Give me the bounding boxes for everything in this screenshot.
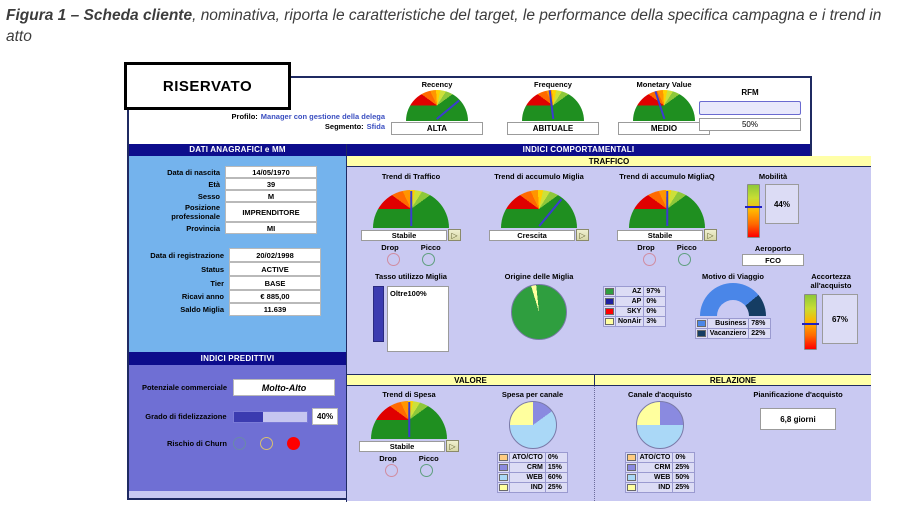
accortezza-title: Accortezza all'acquisto [791,272,871,290]
fidelizzazione-bar [233,411,309,423]
legend-swatch [625,463,637,473]
legend-row: NonAir3% [604,317,666,327]
legend-percent: 0% [545,453,567,463]
spesa-canale-title: Spesa per canale [471,390,594,399]
field-value: M [225,190,317,202]
field-label: Età [137,180,225,189]
field-label: Data di nascita [137,168,225,177]
caption-bold: Figura 1 – Scheda cliente [6,7,192,24]
tasso-utilizzo-block: Tasso utilizzo Miglia Oltre100% [347,272,475,352]
legend-percent: 60% [545,473,567,483]
right-column: TRAFFICO Trend di Traffico Stabile ▷ [347,156,871,502]
legend-name: ATO/CTO [510,453,546,463]
profile-value: Manager con gestione della delega [261,112,385,122]
field-row: Data di registrazione 20/02/1998 [137,248,338,262]
traffico-second-row: Tasso utilizzo Miglia Oltre100% Origine … [347,272,871,352]
field-label: Posizione professionale [137,203,225,221]
gauge-frequency-title: Frequency [501,80,605,89]
field-row: Età 39 [137,178,338,190]
drop-indicator [643,253,656,266]
legend-percent: 78% [749,319,771,329]
field-row: Data di nascita 14/05/1970 [137,166,338,178]
legend-swatch [498,453,510,463]
pianificazione-value-box: 6,8 giorni [760,408,836,430]
origine-legend: AZ97%AP0%SKY0%NonAir3% [603,286,666,327]
aeroporto-title: Aeroporto [731,244,815,253]
header-relazione: RELAZIONE [595,375,871,386]
picco-indicator [422,253,435,266]
legend-name: IND [637,483,673,493]
legend-name: WEB [637,473,673,483]
header-traffico: TRAFFICO [347,156,871,167]
legend-row: SKY0% [604,307,666,317]
picco-label: Picco [419,454,439,463]
motivo-title: Motivo di Viaggio [675,272,791,281]
pianificazione-value: 6,8 giorni [761,409,835,430]
spesa-canale-block: Spesa per canale ATO/CTO0%CRM15%WEB60%IN… [471,386,595,501]
header-dati-anagrafici: DATI ANAGRAFICI e MM [129,144,347,156]
legend-row: IND25% [625,483,695,493]
legend-row: AZ97% [604,287,666,297]
legend-name: NonAir [616,317,644,327]
field-value: 11.639 [229,303,321,316]
trend-traffico-title: Trend di Traffico [347,172,475,190]
canale-pie-chart [636,401,684,449]
header-valore: VALORE [347,375,595,386]
legend-percent: 25% [673,483,695,493]
trend-traffico-dial [373,190,449,228]
mobilita-value: 44% [765,184,799,224]
canale-title: Canale d'acquisto [595,390,725,399]
origine-miglia-block: Origine delle Miglia [475,272,603,352]
pianificazione-block: Pianificazione d'acquisto 6,8 giorni [725,386,871,501]
trend-miglia-value: Crescita [489,230,575,241]
field-value: IMPRENDITORE [225,202,317,222]
legend-name: AP [616,297,644,307]
tasso-value: Oltre100% [388,287,448,298]
churn-row: Rischio di Churn [137,437,338,450]
anagrafica-group-b: Data di registrazione 20/02/1998 Status … [137,248,338,316]
field-value: ACTIVE [229,262,321,276]
fidelizzazione-row: Grado di fidelizzazione 40% [137,408,338,425]
legend-row: ATO/CTO0% [498,453,568,463]
gauge-recency-title: Recency [385,80,489,89]
legend-swatch [625,473,637,483]
potenziale-label: Potenziale commerciale [137,383,233,392]
gauge-recency-dial [406,90,468,121]
predittivi-panel: Potenziale commerciale Molto-Alto Grado … [129,365,346,491]
field-value: 20/02/1998 [229,248,321,262]
field-row: Sesso M [137,190,338,202]
tasso-title: Tasso utilizzo Miglia [347,272,475,281]
gauge-recency-value: ALTA [391,122,483,135]
legend-swatch [695,329,707,339]
legend-percent: 0% [644,307,666,317]
field-value: BASE [229,276,321,290]
header-indici-predittivi: INDICI PREDITTIVI [129,352,346,365]
legend-row: WEB60% [498,473,568,483]
legend-name: CRM [637,463,673,473]
legend-percent: 50% [673,473,695,483]
legend-row: CRM25% [625,463,695,473]
mobilita-meter [747,184,760,238]
fidelizzazione-label: Grado di fidelizzazione [137,412,233,421]
churn-label: Rischio di Churn [137,439,233,448]
field-label: Tier [137,279,229,288]
trend-spesa-title: Trend di Spesa [347,390,471,399]
legend-row: ATO/CTO0% [625,453,695,463]
field-label: Status [137,265,229,274]
picco-label: Picco [677,243,697,252]
spinner-icon[interactable]: ▷ [704,229,717,241]
trend-traffico: Trend di Traffico Stabile ▷ Drop Picco [347,169,475,266]
drop-label: Drop [637,243,655,252]
mobilita-title: Mobilità [731,172,815,181]
legend-name: Vacanziero [707,329,749,339]
field-label: Ricavi anno [137,292,229,301]
trend-migliaq-title: Trend di accumulo MigliaQ [603,172,731,190]
mobilita-block: Mobilità 44% Aeroporto FCO [731,169,815,266]
anagrafica-group-a: Data di nascita 14/05/1970 Età 39 Sesso … [137,166,338,234]
legend-percent: 0% [644,297,666,307]
motivo-viaggio-block: Motivo di Viaggio Business78%Vacanziero2… [675,272,791,352]
churn-dot [260,437,273,450]
field-label: Sesso [137,192,225,201]
potenziale-commerciale-row: Potenziale commerciale Molto-Alto [137,379,338,396]
spesa-legend: ATO/CTO0%CRM15%WEB60%IND25% [497,452,568,493]
spinner-icon[interactable]: ▷ [576,229,589,241]
field-row: Provincia MI [137,222,338,234]
field-label: Saldo Miglia [137,305,229,314]
picco-indicator [420,464,433,477]
trend-migliaq-dial [629,190,705,228]
legend-swatch [625,483,637,493]
profile-row: Profilo: Manager con gestione della dele… [135,112,385,122]
legend-swatch [695,319,707,329]
legend-row: Vacanziero22% [695,329,771,339]
drop-indicator [387,253,400,266]
trend-traffico-value: Stabile [361,230,447,241]
churn-dot-group [233,437,300,450]
drop-label: Drop [381,243,399,252]
segment-row: Segmento: Sfida [135,122,385,132]
legend-percent: 97% [644,287,666,297]
field-value: MI [225,222,317,234]
legend-row: CRM15% [498,463,568,473]
segment-label: Segmento: [325,122,364,132]
gauge-frequency: Frequency ABITUALE [501,80,605,135]
tasso-bar [373,286,384,342]
profile-info: Profilo: Manager con gestione della dele… [135,112,385,132]
legend-swatch [625,453,637,463]
trend-spesa-value: Stabile [359,441,445,452]
top-strip: RISERVATO Profilo: Manager con gestione … [129,78,810,144]
legend-name: CRM [510,463,546,473]
legend-row: IND25% [498,483,568,493]
canale-legend: ATO/CTO0%CRM25%WEB50%IND25% [625,452,696,493]
tasso-value-box: Oltre100% [387,286,449,352]
churn-dot [233,437,246,450]
churn-dot [287,437,300,450]
aeroporto-value-box: FCO [742,254,804,266]
field-row: Ricavi anno € 885,00 [137,290,338,303]
accortezza-value: 67% [822,294,858,344]
field-value: 39 [225,178,317,190]
fidelizzazione-bar-fill [234,412,263,422]
legend-name: Business [707,319,749,329]
trend-spesa-dial [371,401,447,439]
gauge-recency: Recency ALTA [385,80,489,135]
spinner-icon[interactable]: ▷ [448,229,461,241]
legend-swatch [604,287,616,297]
spesa-pie-chart [509,401,557,449]
trend-migliaq-value: Stabile [617,230,703,241]
legend-name: AZ [616,287,644,297]
rfm-bar [699,101,801,115]
picco-indicator [678,253,691,266]
legend-percent: 22% [749,329,771,339]
trend-miglia-title: Trend di accumulo Miglia [475,172,603,190]
legend-row: AP0% [604,297,666,307]
dashboard-body: Data di nascita 14/05/1970 Età 39 Sesso … [129,156,810,502]
legend-name: WEB [510,473,546,483]
fidelizzazione-value: 40% [312,408,338,425]
legend-percent: 25% [545,483,567,493]
pianificazione-title: Pianificazione d'acquisto [725,390,871,400]
legend-percent: 0% [673,453,695,463]
trend-miglia-dial [501,190,577,228]
riservato-stamp: RISERVATO [124,62,291,110]
legend-row: WEB50% [625,473,695,483]
drop-label: Drop [379,454,397,463]
trend-accumulo-migliaq: Trend di accumulo MigliaQ Stabile ▷ Drop… [603,169,731,266]
legend-row: Business78% [695,319,771,329]
traffico-panel: Trend di Traffico Stabile ▷ Drop Picco [347,167,871,374]
spinner-icon[interactable]: ▷ [446,440,459,452]
gauge-monetary-dial [633,90,695,121]
legend-name: IND [510,483,546,493]
traffico-gauge-row: Trend di Traffico Stabile ▷ Drop Picco [347,169,871,266]
field-label: Provincia [137,224,225,233]
valore-relazione-panel: Trend di Spesa Stabile ▷ Drop Picco [347,386,871,501]
rfm-indicator: RFM 50% [692,88,808,131]
legend-swatch [498,463,510,473]
segment-value: Sfida [367,122,385,132]
origine-legend-block: AZ97%AP0%SKY0%NonAir3% [603,272,675,352]
legend-name: SKY [616,307,644,317]
picco-label: Picco [421,243,441,252]
motivo-legend: Business78%Vacanziero22% [695,318,772,339]
aeroporto-value: FCO [743,255,803,266]
mobilita-marker [745,206,762,208]
field-row: Tier BASE [137,276,338,290]
canale-acquisto-block: Canale d'acquisto ATO/CTO0%CRM25%WEB50%I… [595,386,725,501]
field-row: Status ACTIVE [137,262,338,276]
rfm-title: RFM [692,88,808,97]
figure-caption: Figura 1 – Scheda cliente, nominativa, r… [6,6,892,48]
legend-swatch [498,483,510,493]
anagrafica-panel: Data di nascita 14/05/1970 Età 39 Sesso … [129,156,346,352]
gauge-frequency-dial [522,90,584,121]
legend-swatch [498,473,510,483]
drop-indicator [385,464,398,477]
gauge-frequency-value: ABITUALE [507,122,599,135]
legend-swatch [604,317,616,327]
motivo-donut [700,283,766,316]
accortezza-block: Accortezza all'acquisto 67% [791,272,871,352]
customer-scorecard-dashboard: RISERVATO Profilo: Manager con gestione … [127,76,812,500]
legend-name: ATO/CTO [637,453,673,463]
legend-swatch [604,297,616,307]
accortezza-marker [802,323,819,325]
trend-accumulo-miglia: Trend di accumulo Miglia Crescita ▷ ·· [475,169,603,266]
header-indici-comportamentali: INDICI COMPORTAMENTALI [347,144,810,156]
legend-swatch [604,307,616,317]
legend-percent: 15% [545,463,567,473]
legend-percent: 25% [673,463,695,473]
trend-spesa-block: Trend di Spesa Stabile ▷ Drop Picco [347,386,471,501]
rfm-value: 50% [699,118,801,131]
origine-pie-chart [511,284,567,340]
field-label: Data di registrazione [137,251,229,260]
left-column: Data di nascita 14/05/1970 Età 39 Sesso … [129,156,347,502]
field-row: Posizione professionale IMPRENDITORE [137,202,338,222]
field-value: € 885,00 [229,290,321,303]
legend-percent: 3% [644,317,666,327]
field-value: 14/05/1970 [225,166,317,178]
profile-label: Profilo: [232,112,258,122]
potenziale-value: Molto-Alto [233,379,335,396]
field-row: Saldo Miglia 11.639 [137,303,338,316]
origine-title: Origine delle Miglia [475,272,603,281]
